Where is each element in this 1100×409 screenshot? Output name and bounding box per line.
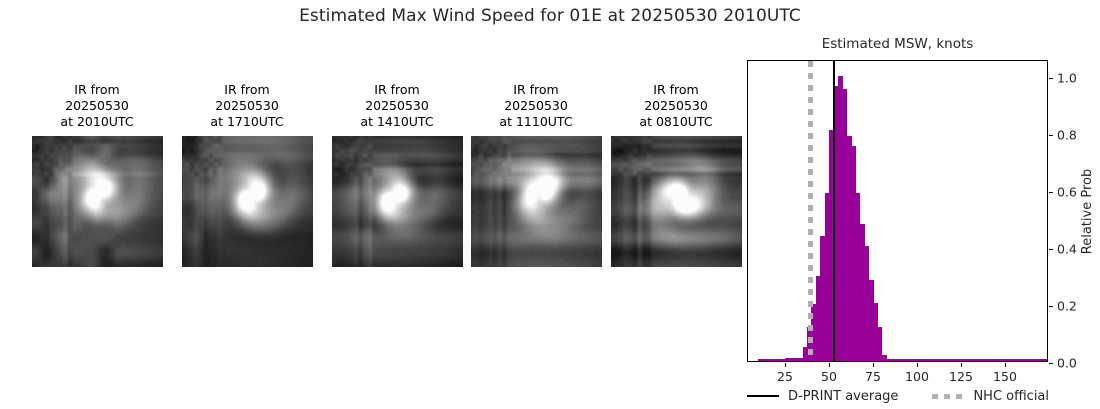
y-axis-tick — [1049, 192, 1053, 193]
legend-dotted-line-icon — [932, 394, 964, 399]
ir-panel-caption: IR from 20250530 at 2010UTC — [22, 82, 172, 130]
chart-legend: D-PRINT averageNHC official — [747, 386, 1077, 406]
ir-panel-caption: IR from 20250530 at 1710UTC — [172, 82, 322, 130]
legend-item: NHC official — [932, 389, 1049, 404]
x-axis-tick — [1005, 363, 1006, 367]
dprint-average-line — [833, 61, 835, 361]
chart-title: Estimated MSW, knots — [747, 36, 1048, 52]
y-axis-tick-label: 0.8 — [1057, 128, 1077, 143]
x-axis-tick-label: 150 — [993, 369, 1017, 384]
ir-panel-1710utc: IR from 20250530 at 1710UTC — [172, 82, 322, 267]
x-axis-tick — [917, 363, 918, 367]
x-axis-tick-label: 25 — [777, 369, 793, 384]
ir-image-panel-row: IR from 20250530 at 2010UTCIR from 20250… — [0, 82, 745, 292]
x-axis-tick — [873, 363, 874, 367]
y-axis-tick — [1049, 135, 1053, 136]
ir-panel-caption: IR from 20250530 at 1110UTC — [461, 82, 611, 130]
figure-root: Estimated Max Wind Speed for 01E at 2025… — [0, 0, 1100, 409]
x-axis-tick — [961, 363, 962, 367]
legend-solid-line-icon — [747, 395, 779, 397]
ir-panel-caption: IR from 20250530 at 1410UTC — [322, 82, 472, 130]
x-axis-tick-label: 50 — [821, 369, 837, 384]
histogram-axes: 2550751001251500.00.20.40.60.81.0 — [747, 60, 1048, 362]
ir-panel-1410utc: IR from 20250530 at 1410UTC — [322, 82, 472, 267]
y-axis-tick — [1049, 78, 1053, 79]
ir-satellite-image — [182, 136, 313, 267]
y-axis-label-text: Relative Prob — [1081, 168, 1096, 253]
ir-panel-0810utc: IR from 20250530 at 0810UTC — [601, 82, 751, 267]
ir-satellite-image — [471, 136, 602, 267]
y-axis-tick — [1049, 363, 1053, 364]
ir-satellite-image — [611, 136, 742, 267]
ir-satellite-image — [332, 136, 463, 267]
y-axis-tick-label: 0.0 — [1057, 356, 1077, 371]
y-axis-tick-label: 0.6 — [1057, 185, 1077, 200]
legend-label: NHC official — [973, 389, 1049, 404]
legend-item: D-PRINT average — [747, 389, 898, 404]
nhc-official-line — [808, 61, 813, 361]
ir-panel-2010utc: IR from 20250530 at 2010UTC — [22, 82, 172, 267]
x-axis-tick-label: 100 — [905, 369, 929, 384]
x-axis-tick — [829, 363, 830, 367]
y-axis-tick-label: 0.2 — [1057, 299, 1077, 314]
x-axis-tick — [785, 363, 786, 367]
y-axis-tick-label: 1.0 — [1057, 71, 1077, 86]
histogram-bar — [882, 355, 887, 361]
histogram-plot-area — [748, 61, 1047, 361]
y-axis-tick-label: 0.4 — [1057, 242, 1077, 257]
ir-satellite-image — [32, 136, 163, 267]
ir-panel-caption: IR from 20250530 at 0810UTC — [601, 82, 751, 130]
x-axis-tick-label: 75 — [865, 369, 881, 384]
y-axis-label: Relative Prob — [1078, 60, 1098, 362]
y-axis-tick — [1049, 249, 1053, 250]
page-title: Estimated Max Wind Speed for 01E at 2025… — [0, 6, 1100, 26]
y-axis-tick — [1049, 306, 1053, 307]
x-axis-tick-label: 125 — [949, 369, 973, 384]
legend-label: D-PRINT average — [788, 389, 898, 404]
ir-panel-1110utc: IR from 20250530 at 1110UTC — [461, 82, 611, 267]
